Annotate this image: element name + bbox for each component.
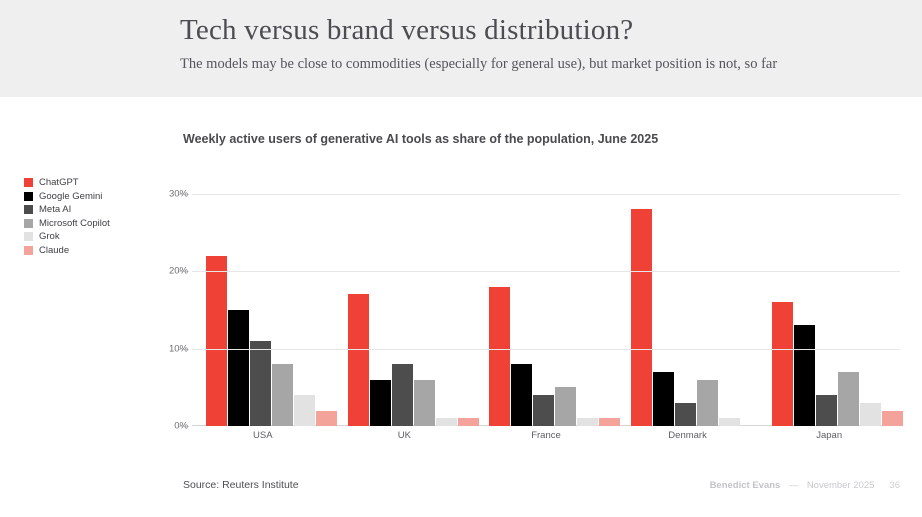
legend-label: ChatGPT [39, 177, 79, 188]
page-subtitle: The models may be close to commodities (… [180, 56, 777, 73]
legend-item[interactable]: ChatGPT [24, 177, 110, 188]
bar-group: UK [334, 178, 476, 426]
x-axis-tick-label: Denmark [617, 430, 759, 441]
bar[interactable] [697, 380, 718, 427]
bar[interactable] [816, 395, 837, 426]
bar-set [617, 178, 759, 426]
legend-item[interactable]: Microsoft Copilot [24, 218, 110, 229]
chart-legend: ChatGPTGoogle GeminiMeta AIMicrosoft Cop… [24, 177, 110, 256]
y-axis-tick-label: 10% [144, 343, 188, 354]
bar[interactable] [719, 418, 740, 426]
legend-swatch-icon [24, 232, 33, 241]
footer-page-number: 36 [889, 480, 900, 491]
y-axis-tick-label: 20% [144, 266, 188, 277]
legend-label: Microsoft Copilot [39, 218, 110, 229]
legend-item[interactable]: Claude [24, 245, 110, 256]
legend-swatch-icon [24, 192, 33, 201]
bar[interactable] [882, 411, 903, 427]
x-axis-tick-label: UK [334, 430, 476, 441]
bar[interactable] [250, 341, 271, 426]
legend-label: Grok [39, 231, 60, 242]
bar-group: Japan [758, 178, 900, 426]
gridline [192, 194, 900, 195]
bar-group: France [475, 178, 617, 426]
bar[interactable] [794, 325, 815, 426]
gridline [192, 349, 900, 350]
gridline [192, 271, 900, 272]
footer-meta: Benedict Evans — November 2025 36 [710, 480, 900, 491]
y-axis-tick-label: 0% [144, 421, 188, 432]
y-axis-tick-label: 30% [144, 188, 188, 199]
x-axis-tick-label: France [475, 430, 617, 441]
bar[interactable] [272, 364, 293, 426]
legend-item[interactable]: Grok [24, 231, 110, 242]
bar[interactable] [228, 310, 249, 426]
bar-group: Denmark [617, 178, 759, 426]
bar[interactable] [414, 380, 435, 427]
legend-swatch-icon [24, 205, 33, 214]
bar[interactable] [577, 418, 598, 426]
chart-plot-area: USAUKFranceDenmarkJapan 0%10%20%30% [178, 178, 900, 426]
footer-dash: — [789, 480, 798, 491]
chart-title: Weekly active users of generative AI too… [183, 132, 658, 146]
legend-item[interactable]: Meta AI [24, 204, 110, 215]
x-axis-tick-label: Japan [758, 430, 900, 441]
bar[interactable] [838, 372, 859, 426]
bar-set [758, 178, 900, 426]
bar[interactable] [772, 302, 793, 426]
bar[interactable] [392, 364, 413, 426]
bar[interactable] [511, 364, 532, 426]
bar[interactable] [206, 256, 227, 427]
bar[interactable] [555, 387, 576, 426]
bar-set [475, 178, 617, 426]
chart-source: Source: Reuters Institute [183, 479, 299, 491]
footer-author: Benedict Evans [710, 480, 781, 491]
bar-set [334, 178, 476, 426]
page-title: Tech versus brand versus distribution? [180, 14, 633, 47]
bar[interactable] [675, 403, 696, 426]
legend-label: Meta AI [39, 204, 71, 215]
bar[interactable] [860, 403, 881, 426]
footer-date: November 2025 [807, 480, 875, 491]
legend-swatch-icon [24, 178, 33, 187]
bar[interactable] [533, 395, 554, 426]
bar-set [192, 178, 334, 426]
bar[interactable] [653, 372, 674, 426]
bar[interactable] [631, 209, 652, 426]
bar[interactable] [294, 395, 315, 426]
legend-swatch-icon [24, 219, 33, 228]
bar[interactable] [436, 418, 457, 426]
bar[interactable] [489, 287, 510, 427]
legend-label: Claude [39, 245, 69, 256]
legend-label: Google Gemini [39, 191, 102, 202]
bar-groups: USAUKFranceDenmarkJapan [192, 178, 900, 426]
legend-item[interactable]: Google Gemini [24, 191, 110, 202]
bar-group: USA [192, 178, 334, 426]
legend-swatch-icon [24, 246, 33, 255]
bar[interactable] [370, 380, 391, 427]
x-axis-tick-label: USA [192, 430, 334, 441]
bar[interactable] [348, 294, 369, 426]
